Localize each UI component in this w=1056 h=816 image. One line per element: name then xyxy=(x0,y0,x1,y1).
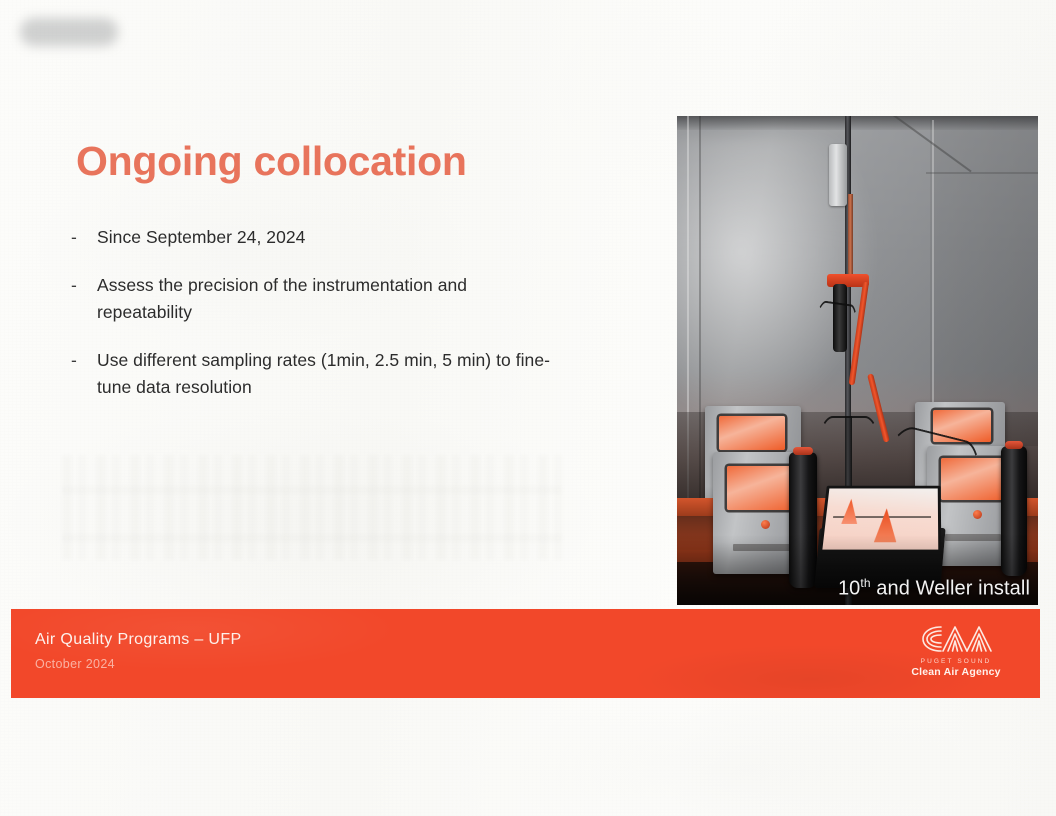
instrument-display xyxy=(719,416,785,450)
bullet-dash-marker: - xyxy=(71,347,77,374)
page-title: Ongoing collocation xyxy=(76,138,467,185)
collocation-photo: 10th and Weller install xyxy=(677,116,1038,605)
photo-caption-ordinal-suffix: th xyxy=(860,576,870,590)
list-item: - Assess the precision of the instrument… xyxy=(70,272,550,326)
logo-name: Clean Air Agency xyxy=(896,666,1016,678)
shelter-right-wall xyxy=(930,116,1038,446)
list-item-label: Use different sampling rates (1min, 2.5 … xyxy=(97,347,550,401)
copper-tubing xyxy=(848,194,853,279)
footer-bar: Air Quality Programs – UFP October 2024 … xyxy=(11,609,1040,698)
photo-caption: 10th and Weller install xyxy=(838,576,1030,601)
slide-page: Ongoing collocation - Since September 24… xyxy=(0,0,1056,816)
wall-seam xyxy=(932,120,934,450)
wall-seam xyxy=(926,172,1038,174)
laptop-plot-peak xyxy=(841,499,859,524)
footer-title: Air Quality Programs – UFP xyxy=(35,631,241,649)
caa-monogram-icon xyxy=(919,623,993,655)
list-item-label: Since September 24, 2024 xyxy=(97,224,550,251)
list-item-label: Assess the precision of the instrumentat… xyxy=(97,272,550,326)
list-item: - Use different sampling rates (1min, 2.… xyxy=(70,347,550,401)
bullet-list: - Since September 24, 2024 - Assess the … xyxy=(70,224,550,422)
photo-caption-number: 10 xyxy=(838,578,860,600)
footer-date: October 2024 xyxy=(35,657,115,671)
black-cable xyxy=(817,416,881,490)
list-item: - Since September 24, 2024 xyxy=(70,224,550,251)
redaction-smudge xyxy=(20,18,118,46)
instrument-knob xyxy=(761,520,770,529)
shelter-ceiling xyxy=(677,116,1038,130)
bullet-dash-marker: - xyxy=(71,272,77,299)
inline-filter-canister xyxy=(829,144,847,206)
instrument-knob xyxy=(973,510,982,519)
caa-logo: PUGET SOUND Clean Air Agency xyxy=(896,623,1016,678)
bullet-dash-marker: - xyxy=(71,224,77,251)
logo-supertext: PUGET SOUND xyxy=(896,658,1016,665)
photo-caption-text: and Weller install xyxy=(871,578,1030,600)
